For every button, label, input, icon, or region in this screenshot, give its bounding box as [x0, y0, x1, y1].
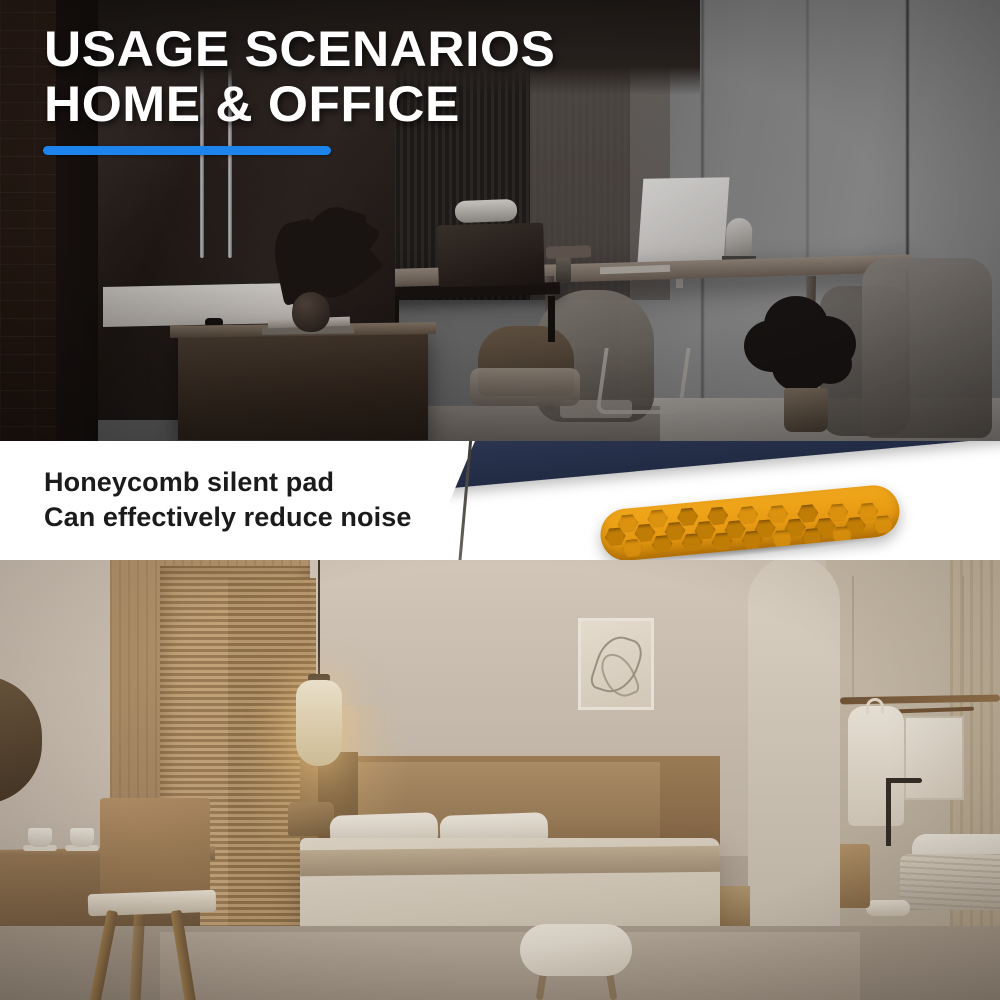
bedroom-scene — [0, 556, 1000, 1000]
banner-caption: Honeycomb silent pad Can effectively red… — [44, 465, 411, 535]
office-scene — [0, 0, 1000, 445]
caption-line-2: Can effectively reduce noise — [44, 500, 411, 535]
caption-line-1: Honeycomb silent pad — [44, 465, 411, 500]
office-vignette — [0, 0, 1000, 445]
feature-banner: Honeycomb silent pad Can effectively red… — [0, 441, 1000, 560]
poster-root: USAGE SCENARIOS HOME & OFFICE — [0, 0, 1000, 1000]
bedroom-vignette — [0, 556, 1000, 1000]
title-underline-accent — [43, 146, 331, 155]
